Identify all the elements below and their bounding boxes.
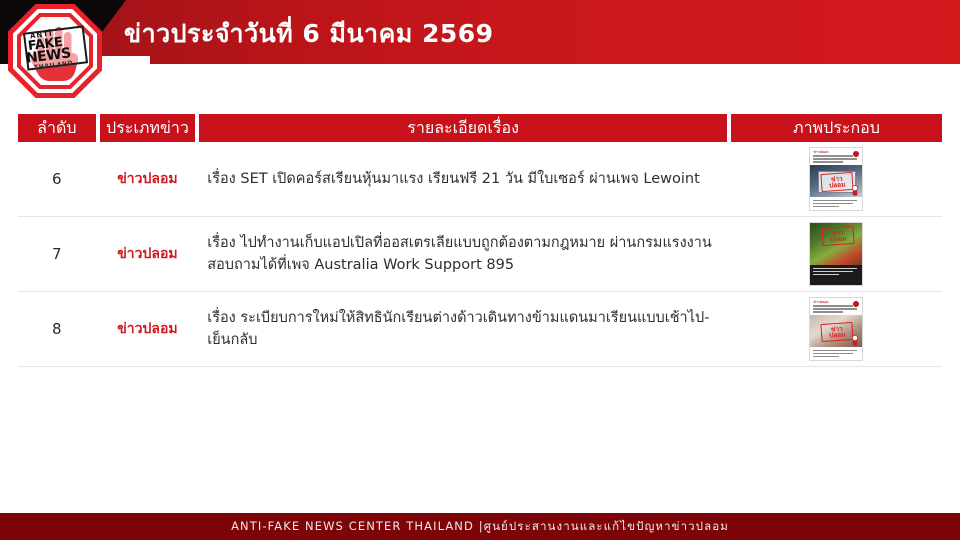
table-row: 7 ข่าวปลอม เรื่อง ไปทำงานเก็บแอปเปิลที่อ… <box>18 217 942 292</box>
page-footer: ANTI-FAKE NEWS CENTER THAILAND |ศูนย์ประ… <box>0 513 960 540</box>
cell-detail: เรื่อง ระเบียบการใหม่ให้สิทธินักเรียนต่า… <box>199 301 727 358</box>
thumb-text-line <box>813 158 857 160</box>
thumb-photo: ข่าวปลอม <box>810 223 862 267</box>
thumb-text-line <box>813 155 853 157</box>
thumb-footer <box>810 197 862 210</box>
thumb-text-line <box>813 305 853 307</box>
cell-image: ข่าวปลอม <box>731 217 942 291</box>
mascot-icon <box>851 335 859 347</box>
thumb-footer <box>810 265 862 285</box>
fake-news-stamp-icon: ข่าวปลอม <box>821 322 854 342</box>
page-header: ข่าวประจำวันที่ 6 มีนาคม 2569 ANTI FAKE … <box>0 0 960 100</box>
fake-news-stamp-icon: ข่าวปลอม <box>822 226 855 246</box>
footer-text: ANTI-FAKE NEWS CENTER THAILAND |ศูนย์ประ… <box>231 518 729 536</box>
column-header-no: ลำดับ <box>18 114 96 142</box>
cell-no: 7 <box>18 245 96 263</box>
thumb-text-line <box>813 308 857 310</box>
thumb-text-line <box>813 206 839 207</box>
thumb-badge-icon <box>853 301 859 307</box>
news-thumbnail[interactable]: ข่าวปลอม ข่าวปลอม <box>809 297 863 361</box>
thumb-text-line <box>813 356 839 357</box>
thumb-text-line <box>813 268 857 269</box>
thumb-badge-icon <box>853 151 859 157</box>
thumb-text-line <box>813 274 839 275</box>
thumb-text-line <box>813 161 843 163</box>
column-header-detail: รายละเอียดเรื่อง <box>199 114 727 142</box>
page-title: ข่าวประจำวันที่ 6 มีนาคม 2569 <box>124 14 494 54</box>
thumb-header: ข่าวปลอม <box>810 298 862 315</box>
news-table: ลำดับ ประเภทข่าว รายละเอียดเรื่อง ภาพประ… <box>18 114 942 367</box>
cell-no: 8 <box>18 320 96 338</box>
thumb-text-line <box>813 350 857 351</box>
status-badge: ข่าวปลอม <box>100 318 196 340</box>
thumb-text-line <box>813 271 853 272</box>
thumb-text-line <box>813 200 857 201</box>
thumb-text-line <box>813 311 843 313</box>
cell-image: ข่าวปลอม ข่าวปลอม <box>731 292 942 366</box>
column-header-image: ภาพประกอบ <box>731 114 942 142</box>
thumb-footer <box>810 347 862 360</box>
status-badge: ข่าวปลอม <box>100 243 196 265</box>
cell-detail: เรื่อง ไปทำงานเก็บแอปเปิลที่ออสเตรเลียแบ… <box>199 226 727 283</box>
cell-detail: เรื่อง SET เปิดคอร์สเรียนหุ้นมาแรง เรียน… <box>199 162 727 196</box>
column-header-type: ประเภทข่าว <box>100 114 196 142</box>
table-header-row: ลำดับ ประเภทข่าว รายละเอียดเรื่อง ภาพประ… <box>18 114 942 142</box>
cell-image: ข่าวปลอม ข่าวปลอม <box>731 142 942 216</box>
anti-fake-news-logo: ANTI FAKE NEWS THAILAND <box>8 4 102 98</box>
news-thumbnail[interactable]: ข่าวปลอม ข่าวปลอม <box>809 147 863 211</box>
slide-page: ข่าวประจำวันที่ 6 มีนาคม 2569 ANTI FAKE … <box>0 0 960 540</box>
thumb-header: ข่าวปลอม <box>810 148 862 165</box>
mascot-icon <box>851 185 859 197</box>
status-badge: ข่าวปลอม <box>100 168 196 190</box>
thumb-text-line <box>813 353 853 354</box>
thumb-text-line <box>813 203 853 204</box>
table-row: 6 ข่าวปลอม เรื่อง SET เปิดคอร์สเรียนหุ้น… <box>18 142 942 217</box>
fake-news-stamp-icon: ข่าวปลอม <box>821 172 854 192</box>
cell-no: 6 <box>18 170 96 188</box>
table-row: 8 ข่าวปลอม เรื่อง ระเบียบการใหม่ให้สิทธิ… <box>18 292 942 367</box>
news-thumbnail[interactable]: ข่าวปลอม <box>809 222 863 286</box>
